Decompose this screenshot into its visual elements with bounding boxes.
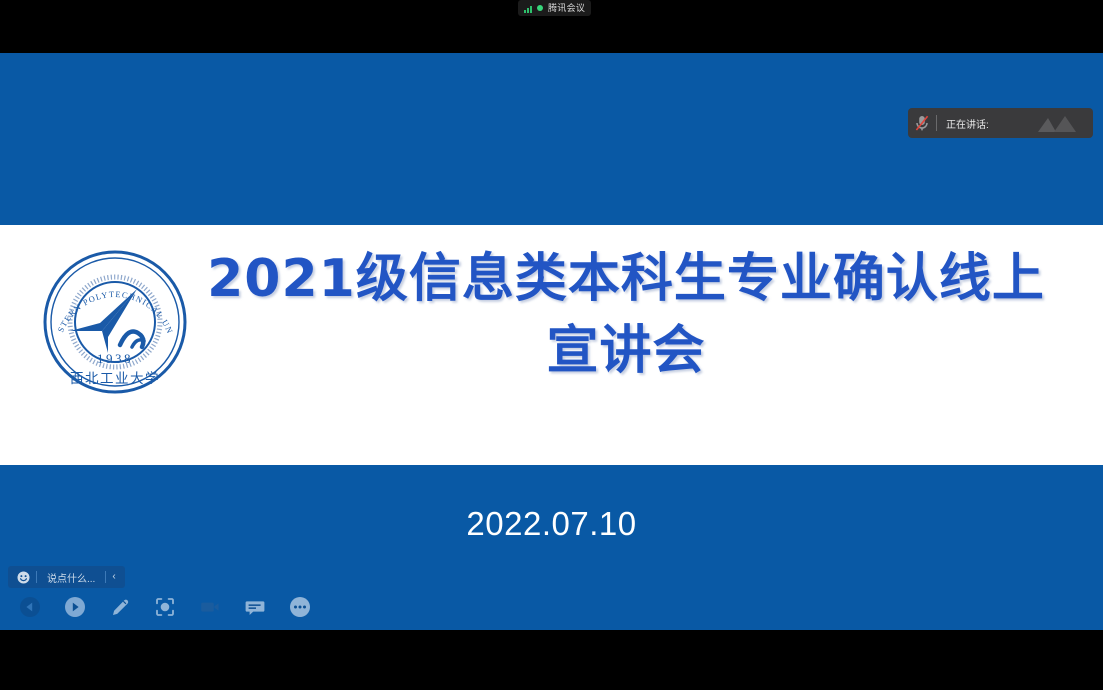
top-system-bar: 腾讯会议 (0, 0, 1103, 53)
slide-date: 2022.07.10 (0, 505, 1103, 543)
presentation-slide: NORTHWESTERN POLYTECHNICAL UNIVERSITY 19… (0, 53, 1103, 630)
more-options-button[interactable] (287, 594, 313, 620)
next-slide-button[interactable] (62, 594, 88, 620)
signal-bars-icon (524, 4, 532, 13)
slide-title-line1: 2021级信息类本科生专业确认线上 (207, 249, 1045, 309)
speaker-avatar (1035, 112, 1079, 134)
emoji-smiley-icon[interactable] (10, 566, 36, 588)
northwestern-polytechnical-university-logo: NORTHWESTERN POLYTECHNICAL UNIVERSITY 19… (42, 249, 188, 395)
slide-title-line2: 宣讲会 (196, 315, 1056, 387)
shared-screen-stage[interactable]: NORTHWESTERN POLYTECHNICAL UNIVERSITY 19… (0, 53, 1103, 630)
slide-title: 2021级信息类本科生专业确认线上 宣讲会 (196, 243, 1056, 387)
microphone-muted-icon (908, 114, 936, 132)
meeting-app-indicator[interactable]: 腾讯会议 (518, 0, 591, 16)
status-dot-icon (537, 5, 543, 11)
bottom-letterbox (0, 630, 1103, 690)
meeting-app-name: 腾讯会议 (548, 0, 585, 16)
spotlight-button[interactable] (152, 594, 178, 620)
chat-input-bar[interactable]: 说点什么... ‹ (8, 566, 125, 588)
chat-input-placeholder[interactable]: 说点什么... (37, 570, 105, 585)
speaking-label: 正在讲话: (937, 116, 989, 131)
chat-bubble-button[interactable] (242, 594, 268, 620)
video-camera-button[interactable] (197, 594, 223, 620)
svg-text:西北工业大学: 西北工业大学 (70, 371, 160, 387)
speaking-indicator[interactable]: 正在讲话: (908, 108, 1093, 138)
previous-slide-button[interactable] (17, 594, 43, 620)
annotate-button[interactable] (107, 594, 133, 620)
svg-text:1938: 1938 (97, 351, 133, 366)
presentation-toolbar[interactable] (17, 594, 313, 620)
chevron-left-icon[interactable]: ‹ (106, 566, 122, 588)
